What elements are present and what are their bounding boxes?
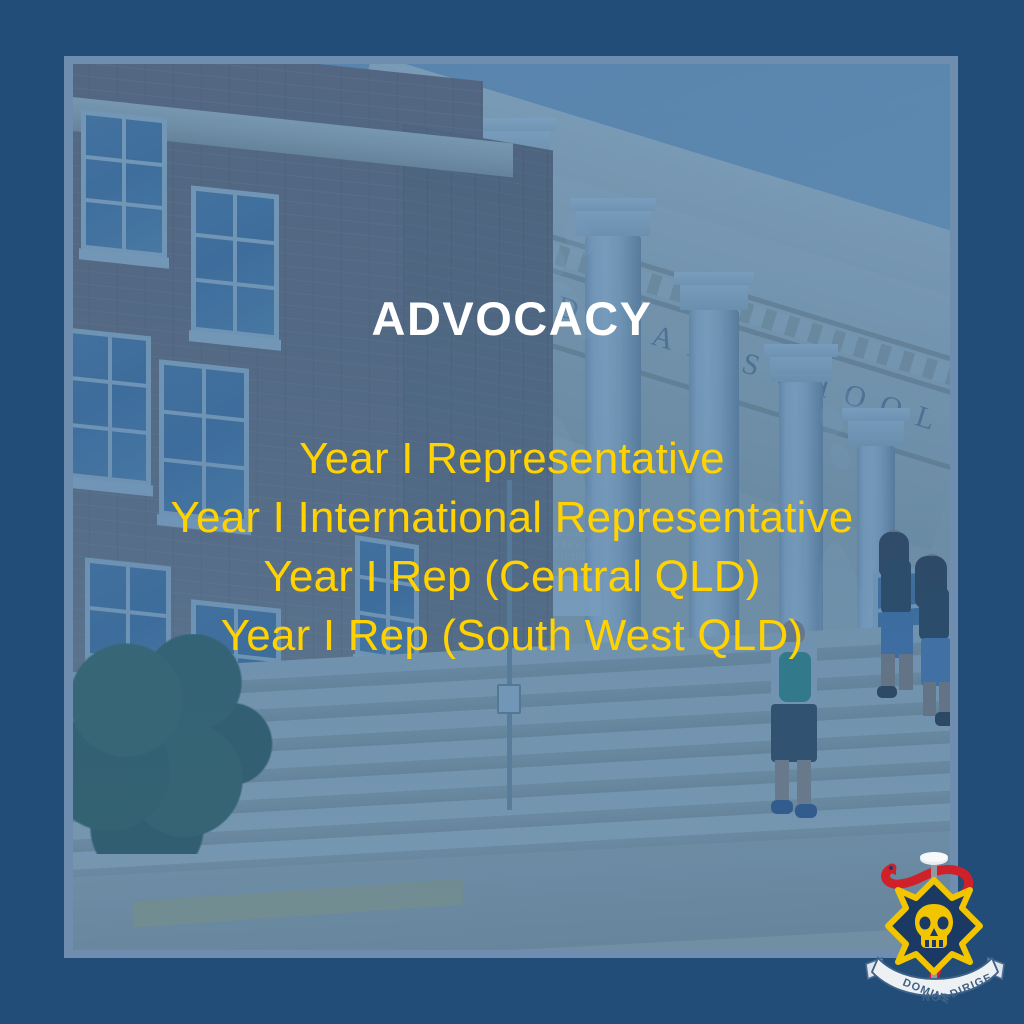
uqms-crest-logo: DOMINE NOS DIRIGE xyxy=(860,846,1010,1006)
page-title: ADVOCACY xyxy=(0,295,1024,342)
role-item-4: Year I Rep (South West QLD) xyxy=(0,607,1024,666)
role-list: Year I Representative Year I Internation… xyxy=(0,430,1024,666)
role-item-3: Year I Rep (Central QLD) xyxy=(0,548,1024,607)
advocacy-poster: THE MEDICAL SCHOOL xyxy=(0,0,1024,1024)
crest-motto-center: NOS xyxy=(922,992,949,1004)
role-item-1: Year I Representative xyxy=(0,430,1024,489)
role-item-2: Year I International Representative xyxy=(0,489,1024,548)
